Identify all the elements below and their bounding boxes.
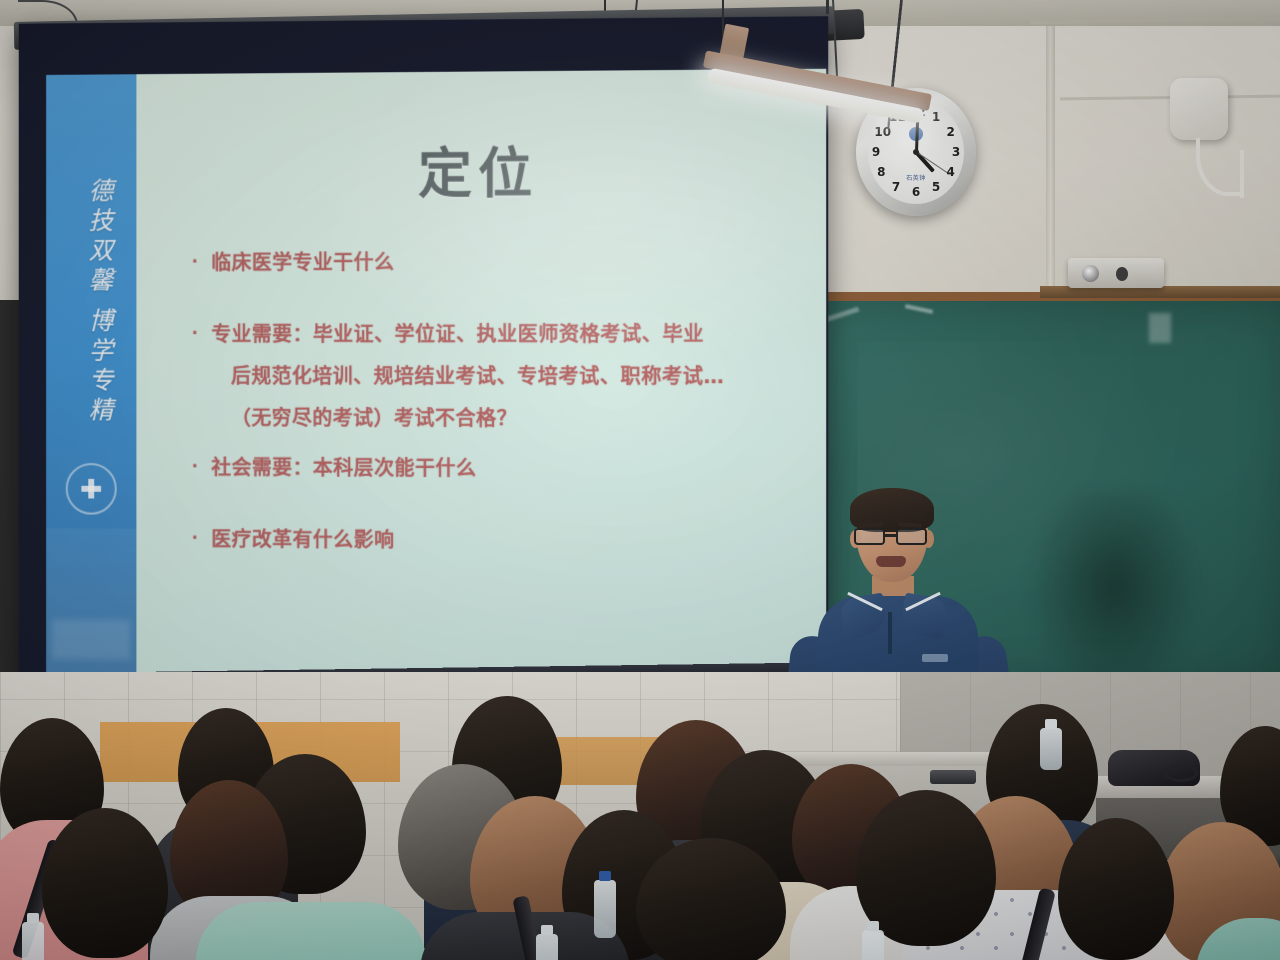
classroom-photo: 石英钟 121234567891011 德技双馨 博学专精 定位: [0, 0, 1280, 960]
bullet-text: 专业需要：毕业证、学位证、执业医师资格考试、毕业 后规范化培训、规培结业考试、专…: [211, 324, 803, 451]
water-bottle: [1040, 728, 1062, 770]
clock-center-pin: [913, 149, 919, 155]
bullet-line: 后规范化培训、规培结业考试、专培考试、职称考试…: [211, 366, 803, 386]
slide-bullet-list: · 临床医学专业干什么 · 专业需要：毕业证、学位证、执业医师资格考试、毕业 后…: [192, 251, 804, 574]
bullet-marker: ·: [192, 529, 212, 571]
presenter-mouth: [876, 556, 906, 567]
water-bottle: [862, 930, 884, 960]
list-item: · 医疗改革有什么影响: [192, 529, 804, 574]
audience-body: [196, 902, 426, 960]
clock-numeral: 5: [929, 180, 943, 194]
water-bottle: [22, 922, 44, 960]
clock-numeral: 7: [889, 180, 903, 194]
water-bottle: [536, 934, 558, 960]
bullet-marker: ·: [192, 253, 212, 295]
projected-slide: 德技双馨 博学专精 定位 · 临床医学专业干什么 ·: [46, 69, 826, 684]
glasses-lens: [854, 528, 885, 545]
bullet-marker: ·: [192, 324, 212, 449]
chalk-mark: [1149, 313, 1171, 343]
bullet-text: 医疗改革有什么影响: [211, 529, 803, 574]
bullet-line: 社会需要：本科层次能干什么: [211, 457, 803, 479]
clock-numeral: 3: [949, 145, 963, 159]
projector-sensor-icon: [1116, 267, 1128, 281]
clock-numeral: 2: [944, 125, 958, 139]
list-item: · 社会需要：本科层次能干什么: [192, 457, 804, 501]
bullet-line: （无穷尽的考试）考试不合格？: [211, 408, 803, 429]
bullet-line: 临床医学专业干什么: [211, 251, 803, 273]
wall-speaker-icon: [1170, 78, 1228, 140]
bullet-line: 医疗改革有什么影响: [211, 529, 803, 552]
shirt-logo: [922, 654, 948, 662]
medical-cross-emblem-icon: [66, 463, 117, 515]
audience: [0, 690, 1280, 960]
slide-sidebar: 德技双馨 博学专精: [46, 74, 136, 677]
projector-lens-icon: [1082, 265, 1099, 282]
clock-numeral: 1: [929, 110, 943, 124]
speaker-cable: [1240, 150, 1244, 198]
bullet-line: 专业需要：毕业证、学位证、执业医师资格考试、毕业: [211, 324, 803, 344]
chalk-mark: [905, 304, 933, 314]
projection-screen: 德技双馨 博学专精 定位 · 临床医学专业干什么 ·: [19, 16, 829, 702]
glasses-lens: [896, 528, 927, 545]
slide-sidebar-calligraphy: 德技双馨 博学专精: [69, 104, 114, 501]
clock-brand-text: 石英钟: [906, 173, 926, 182]
slide-title: 定位: [136, 127, 826, 210]
wall-pilaster: [1046, 26, 1055, 296]
clock-numeral: 4: [944, 165, 958, 179]
shirt-placket: [888, 612, 892, 654]
clock-numeral: 8: [874, 165, 888, 179]
bullet-text: 社会需要：本科层次能干什么: [211, 457, 803, 501]
bullet-marker: ·: [192, 457, 212, 499]
water-bottle: [594, 880, 616, 938]
sidebar-building-photo: [46, 528, 136, 677]
lamp-cable: [826, 0, 829, 14]
audience-head: [42, 808, 168, 958]
bullet-text: 临床医学专业干什么: [211, 251, 803, 294]
glasses-bridge: [885, 534, 896, 537]
cross-glyph: [81, 479, 101, 499]
slide-content: 定位 · 临床医学专业干什么 · 专业需要：毕业证、学位证、执业医师资格考试、毕…: [136, 69, 826, 684]
glasses-icon: [852, 528, 932, 545]
list-item: · 临床医学专业干什么: [192, 251, 804, 295]
audience-head: [1058, 818, 1174, 960]
clock-numeral: 6: [909, 185, 923, 199]
list-item: · 专业需要：毕业证、学位证、执业医师资格考试、毕业 后规范化培训、规培结业考试…: [192, 324, 804, 451]
clock-numeral: 9: [869, 145, 883, 159]
projector-icon: [1068, 258, 1164, 288]
